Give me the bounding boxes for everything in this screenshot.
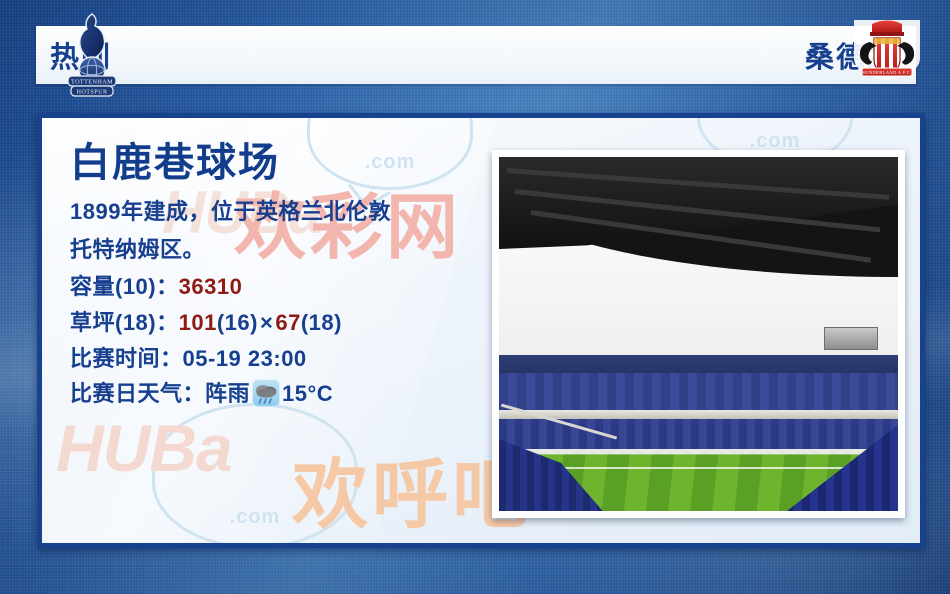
screenshot-root: 热刺 桑德兰 <box>0 0 950 594</box>
stadium-description-line-2: 托特纳姆区。 <box>70 232 490 268</box>
pitch-size-separator: × <box>258 310 275 335</box>
pitch-width-value: 67 <box>275 310 300 335</box>
capacity-row: 容量(10)：36310 <box>70 269 490 305</box>
stadium-description-line-1: 1899年建成，位于英格兰北伦敦 <box>70 194 490 230</box>
match-time-value: 05-19 23:00 <box>183 346 307 371</box>
photo-lower-seats <box>499 419 898 451</box>
pitch-width-rank: (18) <box>301 310 342 335</box>
crest-banner-text: SUNDERLAND A.F.C. <box>862 70 911 75</box>
stadium-photo <box>492 150 905 518</box>
crest-scroll-bottom: HOTSPUR <box>77 89 108 96</box>
pitch-length-value: 101 <box>179 310 217 335</box>
match-header-bar: 热刺 桑德兰 <box>36 26 916 84</box>
match-weather-row: 比赛日天气：阵雨 15°C <box>70 376 490 412</box>
stadium-title: 白鹿巷球场 <box>70 140 490 186</box>
weather-condition: 阵雨 <box>205 381 250 406</box>
weather-label: 比赛日天气： <box>70 381 205 406</box>
pitch-length-rank: (16) <box>217 310 258 335</box>
sunderland-afc-crest: SUNDERLAND A.F.C. <box>850 18 924 82</box>
stadium-text-block: 白鹿巷球场 1899年建成，位于英格兰北伦敦 托特纳姆区。 容量(10)：363… <box>70 140 490 412</box>
shower-rain-icon <box>252 379 280 407</box>
pitch-size-row: 草坪(18)：101(16)×67(18) <box>70 305 490 341</box>
capacity-label: 容量(10)： <box>70 274 179 299</box>
tottenham-hotspur-crest: TOTTENHAM HOTSPUR <box>62 10 122 100</box>
stadium-info-card: .com .com .com HUBa HUBa 欢彩网 欢呼吧 白鹿巷球场 1… <box>37 113 925 548</box>
crest-scroll-top: TOTTENHAM <box>71 79 113 86</box>
match-time-label: 比赛时间： <box>70 346 183 371</box>
weather-temperature: 15°C <box>282 381 333 406</box>
match-time-row: 比赛时间：05-19 23:00 <box>70 341 490 377</box>
capacity-value: 36310 <box>179 274 243 299</box>
stadium-photo-image <box>499 157 898 511</box>
photo-upper-seats <box>499 373 898 412</box>
pitch-label: 草坪(18)： <box>70 310 179 335</box>
photo-scoreboard <box>824 327 878 350</box>
